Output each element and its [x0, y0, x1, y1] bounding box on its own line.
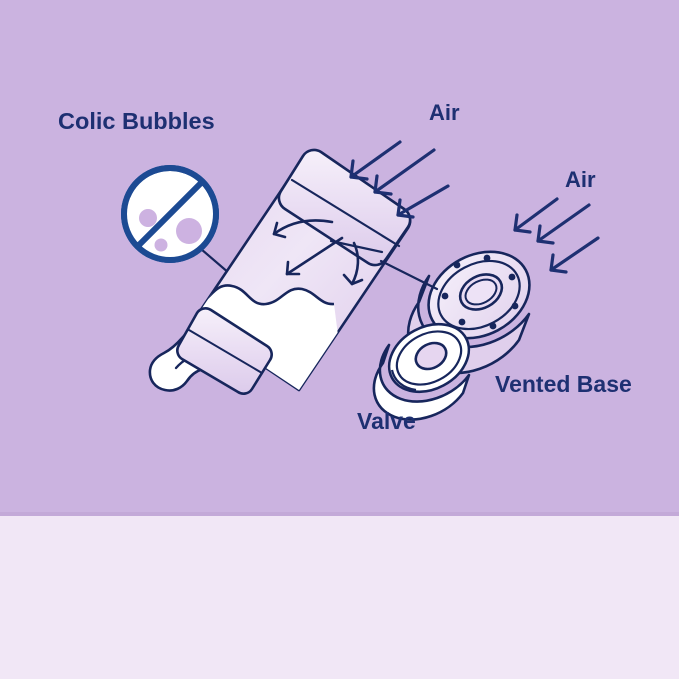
air-arrows-right — [515, 199, 598, 272]
caption-panel: Reduces Colic and Gas Patented Anti-Coli… — [0, 516, 679, 679]
label-vented-base: Vented Base — [495, 371, 632, 398]
label-air-right: Air — [565, 167, 596, 193]
label-valve: Valve — [357, 408, 416, 435]
label-colic-bubbles: Colic Bubbles — [58, 108, 215, 135]
illustration-panel: Colic Bubbles Air Air Valve Vented Base — [0, 0, 679, 515]
no-colic-bubbles-symbol — [120, 168, 218, 268]
promo-feature-card: Colic Bubbles Air Air Valve Vented Base … — [0, 0, 679, 679]
label-air-top: Air — [429, 100, 460, 126]
anti-colic-diagram — [0, 0, 679, 515]
